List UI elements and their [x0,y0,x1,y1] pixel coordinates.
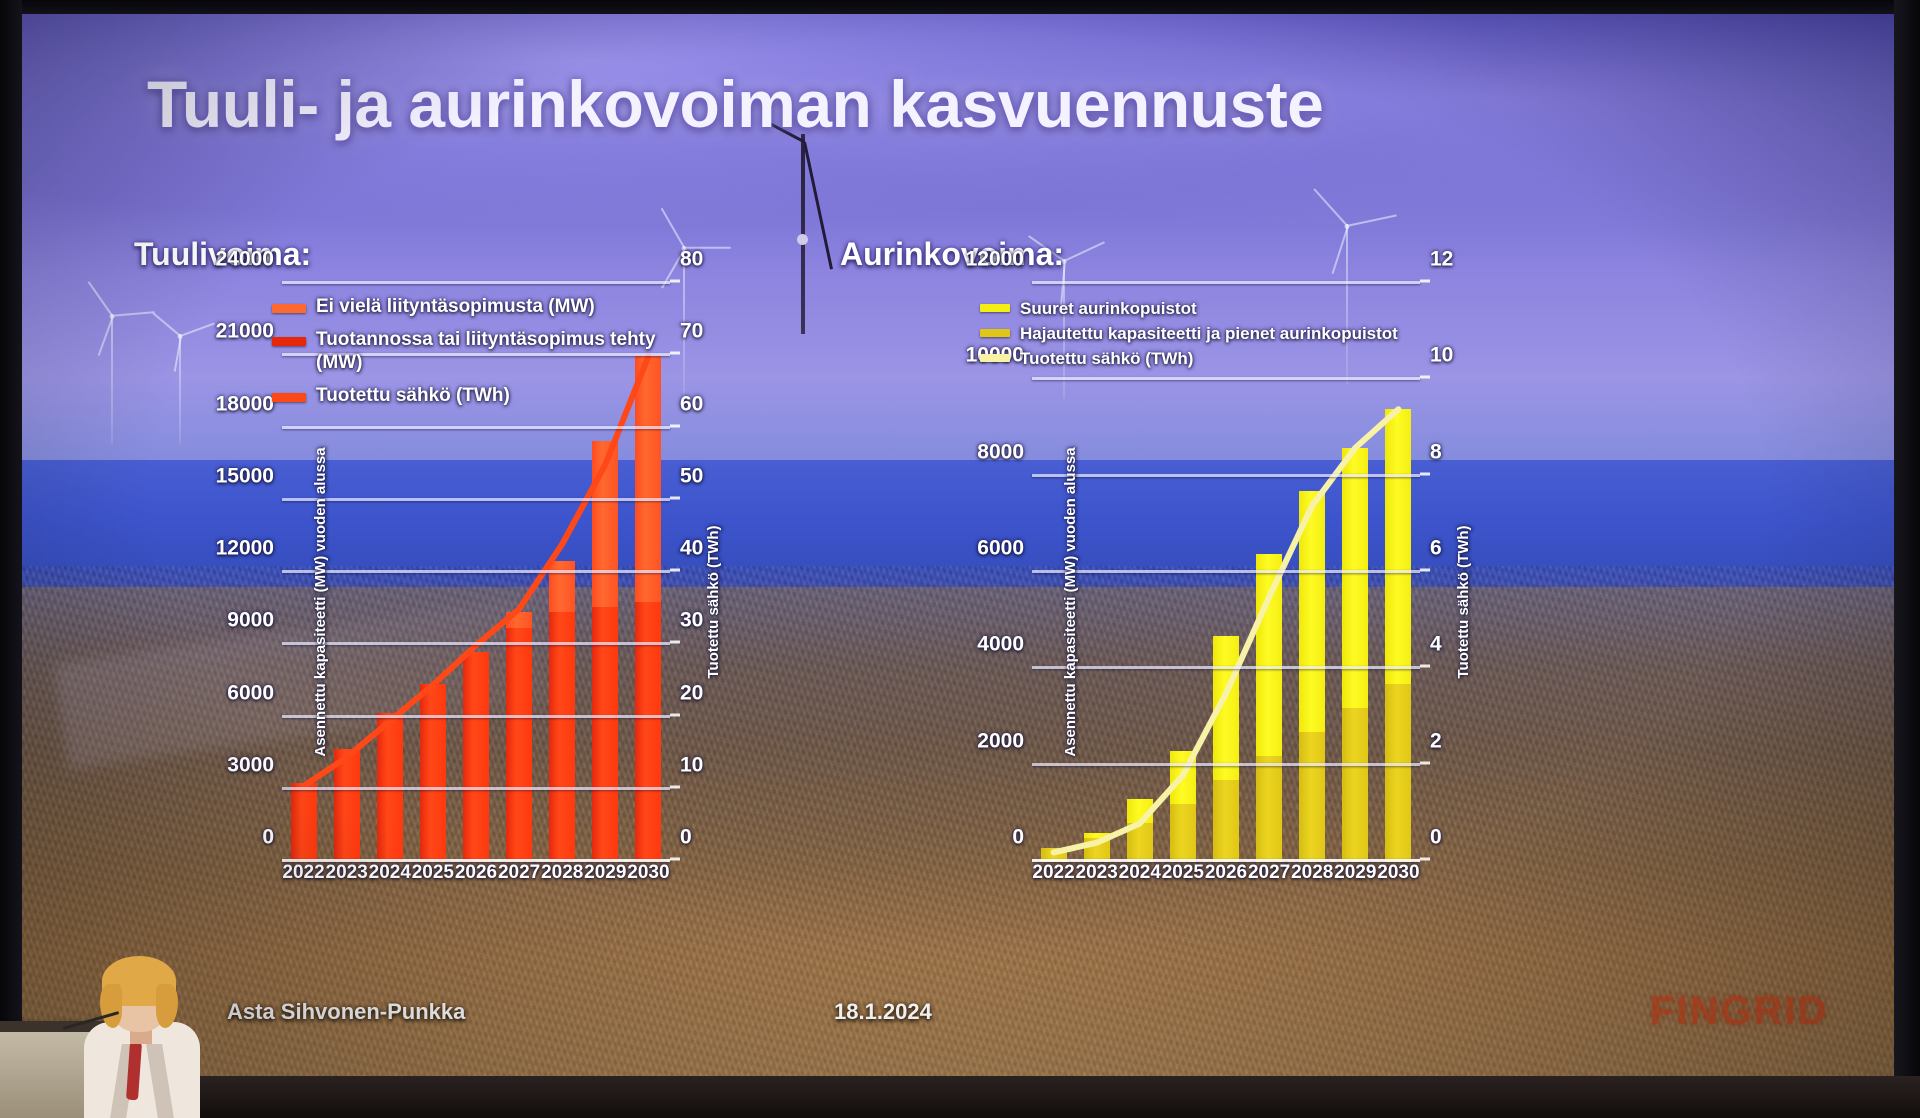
x-axis-tick-label: 2026 [455,862,497,890]
legend-swatch [272,337,306,346]
solar-x-axis-labels: 202220232024202520262027202820292030 [1032,862,1420,890]
y2-axis-tick-label: 0 [1430,826,1442,850]
y2-tick-mark [1420,665,1430,668]
slide-title: Tuuli- ja aurinkovoiman kasvuennuste [147,66,1323,142]
x-axis-tick-label: 2030 [1377,862,1419,890]
y-axis-tick-label: 18000 [216,392,274,416]
projected-slide: Tuuli- ja aurinkovoiman kasvuennuste Tuu… [22,14,1894,1076]
y2-tick-mark [1420,858,1430,861]
solar-legend: Suuret aurinkopuistotHajautettu kapasite… [980,299,1480,374]
bar-segment-upper [1385,409,1411,684]
wind-legend: Ei vielä liityntäsopimusta (MW)Tuotannos… [272,296,702,419]
presentation-date: 18.1.2024 [834,999,932,1025]
bar-segment-lower [1170,804,1196,862]
y-axis-tick-label: 9000 [227,609,274,633]
y-axis-tick-label: 21000 [216,320,274,344]
gridline [282,281,670,284]
x-axis-tick-label: 2028 [1291,862,1333,890]
y-axis-tick-label: 12000 [966,248,1024,272]
x-axis-tick-label: 2027 [1248,862,1290,890]
legend-item[interactable]: Hajautettu kapasiteetti ja pienet aurink… [980,324,1480,344]
bar-segment-lower [291,783,317,862]
y2-axis-tick-label: 20 [680,681,703,705]
bar-segment-lower [1342,708,1368,862]
bar-segment-lower [334,749,360,862]
legend-label: Tuotannossa tai liityntäsopimus tehty (M… [316,329,702,374]
y2-axis-tick-label: 0 [680,826,692,850]
y2-axis-tick-label: 6 [1430,537,1442,561]
legend-swatch [980,329,1010,337]
y2-tick-mark [1420,280,1430,283]
solar-y-axis-title: Asennettu kapasiteetti (MW) vuoden aluss… [1062,447,1079,756]
room-wall-left [0,0,22,1118]
wind-y-axis-title: Asennettu kapasiteetti (MW) vuoden aluss… [312,447,329,756]
gridline [282,642,670,645]
y-axis-tick-label: 8000 [977,440,1024,464]
gridline [1032,763,1420,766]
gridline [1032,570,1420,573]
bar-segment-upper [1299,491,1325,732]
y-axis-tick-label: 4000 [977,633,1024,657]
y2-axis-tick-label: 10 [680,753,703,777]
y2-tick-mark [670,785,680,788]
y2-axis-tick-label: 40 [680,537,703,561]
y-axis-tick-label: 12000 [216,537,274,561]
y-axis-tick-label: 2000 [977,729,1024,753]
legend-label: Hajautettu kapasiteetti ja pienet aurink… [1020,324,1398,344]
x-axis-tick-label: 2026 [1205,862,1247,890]
x-axis-tick-label: 2027 [498,862,540,890]
room-ceiling [0,0,1920,14]
solar-chart-heading: Aurinkovoima: [840,236,1064,273]
legend-item[interactable]: Suuret aurinkopuistot [980,299,1480,319]
y2-axis-tick-label: 8 [1430,440,1442,464]
legend-item[interactable]: Tuotannossa tai liityntäsopimus tehty (M… [272,329,702,374]
legend-label: Suuret aurinkopuistot [1020,299,1197,319]
x-axis-tick-label: 2022 [282,862,324,890]
y2-tick-mark [670,713,680,716]
gridline [282,426,670,429]
bar-segment-lower [420,684,446,862]
gridline [282,498,670,501]
bar-segment-lower [549,612,575,862]
bar-segment-upper [506,612,532,629]
bar-segment-upper [1170,751,1196,804]
x-axis-tick-label: 2024 [1119,862,1161,890]
legend-label: Tuotettu sähkö (TWh) [316,385,510,407]
y2-tick-mark [670,858,680,861]
gridline [1032,377,1420,380]
legend-item[interactable]: Tuotettu sähkö (TWh) [980,349,1480,369]
foreground-wind-turbine-icon [757,134,847,334]
x-axis-tick-label: 2024 [369,862,411,890]
x-axis-tick-label: 2030 [627,862,669,890]
gridline [1032,666,1420,669]
x-axis-tick-label: 2029 [584,862,626,890]
y-axis-tick-label: 15000 [216,464,274,488]
y-axis-tick-label: 6000 [977,537,1024,561]
wind-y2-axis-title: Tuotettu sähkö (TWh) [705,525,722,678]
gridline [1032,281,1420,284]
y-axis-tick-label: 0 [262,826,274,850]
x-axis-tick-label: 2023 [1076,862,1118,890]
legend-label: Ei vielä liityntäsopimusta (MW) [316,296,595,318]
speaker-at-podium [72,933,262,1118]
legend-swatch [272,304,306,313]
y2-axis-tick-label: 30 [680,609,703,633]
y2-tick-mark [670,569,680,572]
legend-swatch [980,304,1010,312]
y-axis-tick-label: 3000 [227,753,274,777]
bar-segment-lower [1256,756,1282,862]
legend-swatch [980,354,1010,362]
solar-y2-axis-title: Tuotettu sähkö (TWh) [1455,525,1472,678]
y2-tick-mark [1420,376,1430,379]
conference-room: Tuuli- ja aurinkovoiman kasvuennuste Tuu… [0,0,1920,1118]
y2-tick-mark [1420,761,1430,764]
bar-segment-lower [635,602,661,862]
y-axis-tick-label: 24000 [216,248,274,272]
y2-tick-mark [1420,569,1430,572]
y-axis-tick-label: 0 [1012,826,1024,850]
y2-tick-mark [670,280,680,283]
x-axis-tick-label: 2025 [412,862,454,890]
y2-axis-tick-label: 50 [680,464,703,488]
bar-segment-lower [1213,780,1239,862]
gridline [282,715,670,718]
legend-label: Tuotettu sähkö (TWh) [1020,349,1193,369]
bar-segment-lower [463,652,489,862]
x-axis-tick-label: 2022 [1032,862,1074,890]
room-wall-right [1894,0,1920,1118]
y2-axis-tick-label: 80 [680,248,703,272]
y-axis-tick-label: 6000 [227,681,274,705]
gridline [282,570,670,573]
y2-tick-mark [670,496,680,499]
bar-segment-upper [592,441,618,607]
x-axis-tick-label: 2028 [541,862,583,890]
room-floor [0,1076,1920,1118]
legend-item[interactable]: Ei vielä liityntäsopimusta (MW) [272,296,702,318]
fingrid-logo: FINGRID [1650,989,1828,1034]
x-axis-tick-label: 2023 [326,862,368,890]
bar-segment-lower [1385,684,1411,862]
x-axis-tick-label: 2025 [1162,862,1204,890]
gridline [1032,474,1420,477]
bar-segment-upper [1127,799,1153,823]
bar-segment-upper [549,561,575,612]
bar-segment-lower [506,628,532,862]
bar-segment-upper [1256,554,1282,756]
x-axis-tick-label: 2029 [1334,862,1376,890]
y2-axis-tick-label: 2 [1430,729,1442,753]
bar-segment-upper [1213,636,1239,781]
y2-axis-tick-label: 12 [1430,248,1453,272]
bar-segment-lower [1299,732,1325,862]
bar-segment-lower [1127,823,1153,862]
y2-tick-mark [670,641,680,644]
wind-x-axis-labels: 202220232024202520262027202820292030 [282,862,670,890]
y2-tick-mark [670,424,680,427]
y2-tick-mark [1420,472,1430,475]
legend-swatch [272,393,306,402]
gridline [282,787,670,790]
presenter-name: Asta Sihvonen-Punkka [227,999,465,1025]
legend-item[interactable]: Tuotettu sähkö (TWh) [272,385,702,407]
y2-axis-tick-label: 4 [1430,633,1442,657]
